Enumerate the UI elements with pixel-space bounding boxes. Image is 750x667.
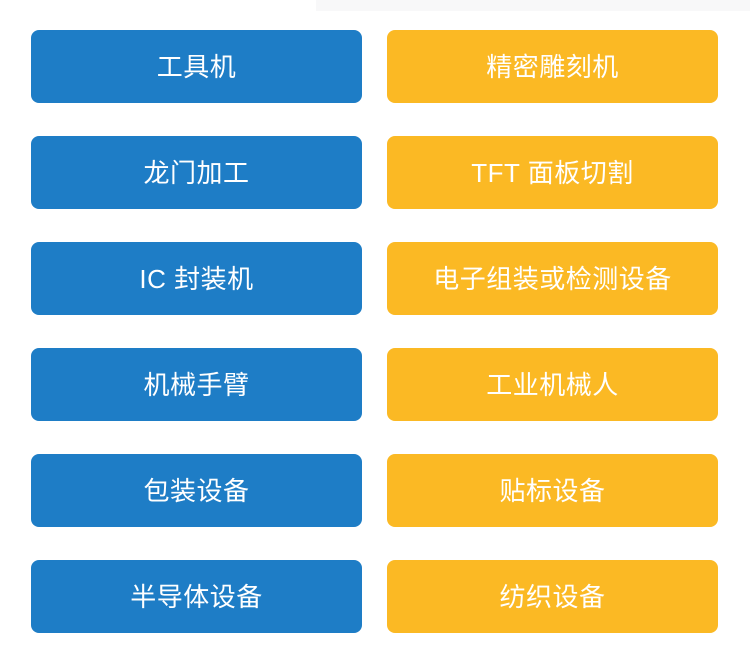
category-button-packaging-equipment[interactable]: 包装设备 bbox=[31, 454, 362, 527]
category-button-label: 工具机 bbox=[157, 54, 237, 80]
category-button-jingmidiaokeji[interactable]: 精密雕刻机 bbox=[387, 30, 718, 103]
application-category-grid: 工具机 精密雕刻机 龙门加工 TFT 面板切割 IC 封装机 电子组装或检测设备… bbox=[31, 30, 719, 633]
category-button-electronic-assembly-inspection[interactable]: 电子组装或检测设备 bbox=[387, 242, 718, 315]
category-button-label: 贴标设备 bbox=[499, 478, 605, 504]
category-button-label: 电子组装或检测设备 bbox=[433, 266, 672, 292]
category-button-robotic-arm[interactable]: 机械手臂 bbox=[31, 348, 362, 421]
category-button-tft-panel-cutting[interactable]: TFT 面板切割 bbox=[387, 136, 718, 209]
category-button-textile-equipment[interactable]: 纺织设备 bbox=[387, 560, 718, 633]
category-button-label: 龙门加工 bbox=[143, 160, 249, 186]
category-button-labeling-equipment[interactable]: 贴标设备 bbox=[387, 454, 718, 527]
category-button-semiconductor-equipment[interactable]: 半导体设备 bbox=[31, 560, 362, 633]
category-button-label: 包装设备 bbox=[143, 478, 249, 504]
category-button-label: IC 封装机 bbox=[139, 266, 253, 292]
category-button-longmenjiagong[interactable]: 龙门加工 bbox=[31, 136, 362, 209]
category-button-label: TFT 面板切割 bbox=[471, 160, 633, 186]
category-button-label: 精密雕刻机 bbox=[486, 54, 619, 80]
category-button-label: 工业机械人 bbox=[486, 372, 619, 398]
category-button-gongjuji[interactable]: 工具机 bbox=[31, 30, 362, 103]
category-button-label: 纺织设备 bbox=[499, 584, 605, 610]
category-button-ic-packaging[interactable]: IC 封装机 bbox=[31, 242, 362, 315]
category-button-label: 机械手臂 bbox=[143, 372, 249, 398]
top-decorative-strip bbox=[316, 0, 750, 11]
category-button-label: 半导体设备 bbox=[130, 584, 263, 610]
category-button-industrial-robot[interactable]: 工业机械人 bbox=[387, 348, 718, 421]
